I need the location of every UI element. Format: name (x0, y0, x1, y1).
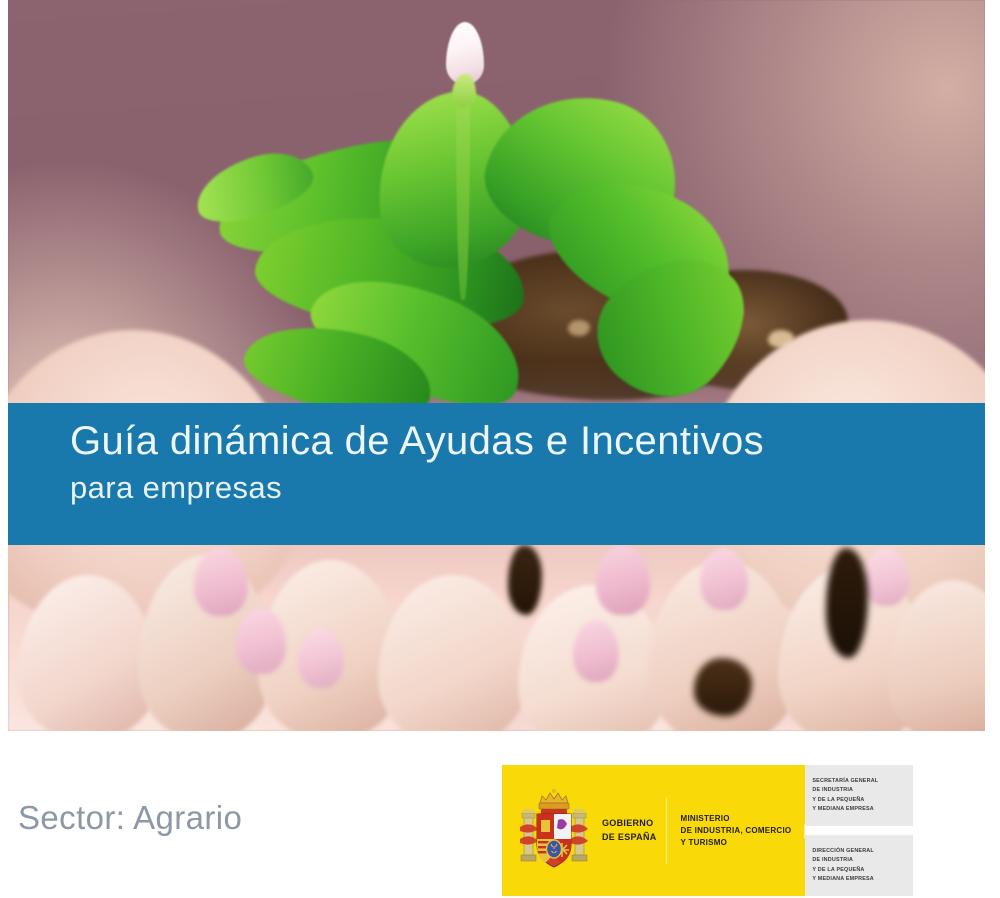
government-name-line2: DE ESPAÑA (602, 831, 657, 844)
ministry-name-line1: MINISTERIO (681, 813, 792, 825)
logo-unit-panels: SECRETARÍA GENERAL DE INDUSTRIA Y DE LA … (805, 765, 913, 896)
government-name: GOBIERNO DE ESPAÑA (602, 817, 657, 843)
unit-secretaria-line2: DE INDUSTRIA (812, 786, 878, 795)
government-name-line1: GOBIERNO (602, 817, 657, 830)
sector-label: Sector: Agrario (18, 799, 242, 837)
nail-7 (863, 548, 909, 606)
logo-unit-panel-direccion: DIRECCIÓN GENERAL DE INDUSTRIA Y DE LA P… (805, 835, 913, 896)
soil-speck-c (568, 320, 590, 336)
unit-direccion-line1: DIRECCIÓN GENERAL (812, 847, 874, 856)
logo-yellow-area: GOBIERNO DE ESPAÑA MINISTERIO DE INDUSTR… (502, 765, 805, 896)
finger-gap-1 (508, 545, 542, 615)
logo-block-government: GOBIERNO DE ESPAÑA (502, 787, 667, 875)
finger-gap-2 (826, 548, 868, 658)
unit-name-secretaria: SECRETARÍA GENERAL DE INDUSTRIA Y DE LA … (812, 777, 878, 814)
government-logo: GOBIERNO DE ESPAÑA MINISTERIO DE INDUSTR… (502, 765, 913, 896)
page-title: Guía dinámica de Ayudas e Incentivos (70, 419, 985, 464)
bud-sepal (452, 74, 476, 108)
title-banner: Guía dinámica de Ayudas e Incentivos par… (8, 403, 985, 545)
cover-photo (8, 0, 985, 731)
unit-secretaria-line4: Y MEDIANA EMPRESA (812, 805, 878, 814)
finger-gap-3 (694, 658, 752, 716)
footer-strip: Sector: Agrario (0, 731, 1000, 898)
nail-3 (298, 628, 344, 688)
unit-name-direccion: DIRECCIÓN GENERAL DE INDUSTRIA Y DE LA P… (812, 847, 874, 884)
logo-block-ministry: MINISTERIO DE INDUSTRIA, COMERCIO Y TURI… (667, 813, 806, 849)
unit-secretaria-line1: SECRETARÍA GENERAL (812, 777, 878, 786)
ministry-name: MINISTERIO DE INDUSTRIA, COMERCIO Y TURI… (681, 813, 792, 849)
page-subtitle: para empresas (70, 470, 985, 506)
nail-6 (700, 548, 748, 610)
spain-coat-of-arms-icon (518, 787, 590, 875)
unit-direccion-line2: DE INDUSTRIA (812, 856, 874, 865)
ministry-name-line2: DE INDUSTRIA, COMERCIO (681, 825, 792, 837)
unit-secretaria-line3: Y DE LA PEQUEÑA (812, 796, 878, 805)
logo-unit-panel-secretaria: SECRETARÍA GENERAL DE INDUSTRIA Y DE LA … (805, 765, 913, 826)
nail-5 (573, 620, 619, 682)
unit-direccion-line3: Y DE LA PEQUEÑA (812, 866, 874, 875)
ministry-name-line3: Y TURISMO (681, 837, 792, 849)
unit-direccion-line4: Y MEDIANA EMPRESA (812, 875, 874, 884)
